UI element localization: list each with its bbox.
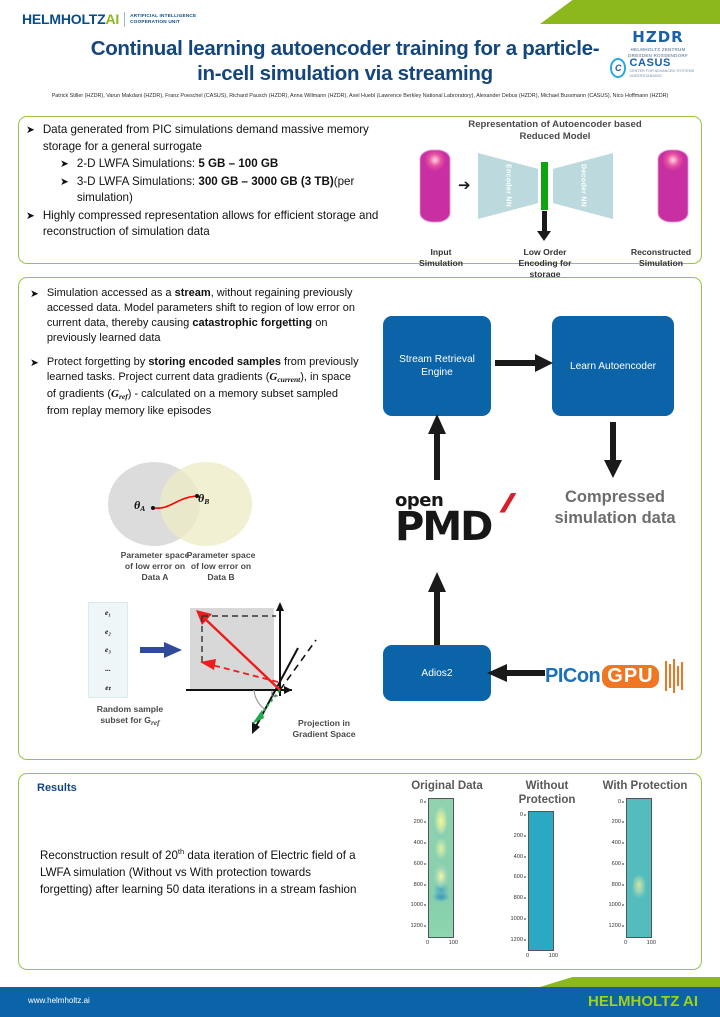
b2-bold-storing: storing encoded samples (148, 356, 281, 368)
helmholtz-ai-logo: HELMHOLTZAI ARTIFICIAL INTELLIGENCE COOP… (22, 11, 196, 27)
y-tick-label: 800 (612, 882, 621, 888)
x-tick-label: 100 (449, 940, 458, 946)
x-tick-label: 0 (624, 940, 627, 946)
heatmap-image (528, 811, 554, 951)
footer-helmholtz-ai-logo: HELMHOLTZ AI (588, 993, 698, 1010)
autoencoder-title-line2: Reduced Model (410, 131, 700, 143)
picongpu-bars-icon (665, 659, 683, 693)
sample-item: e₂ (105, 627, 111, 636)
bullet-text: Data generated from PIC simulations dema… (43, 122, 398, 155)
latent-bar (541, 162, 548, 210)
picongpu-logo: PICon GPU (545, 655, 695, 697)
theta-a-sub: A (140, 504, 145, 513)
plot-title: Original Data (400, 780, 494, 794)
sample-item: ... (105, 664, 111, 673)
y-tick-label: 600 (514, 874, 523, 880)
x-tick-label: 0 (526, 953, 529, 959)
g-ref-symbol: G (111, 388, 119, 400)
plot-x-axis: 0 100 (526, 953, 558, 959)
y-tick-label: 400 (612, 840, 621, 846)
helmholtz-word-text: HELMHOLTZ (22, 11, 105, 27)
right-arrow-icon: ➔ (458, 181, 471, 191)
results-plot-group: Original Data 0 200 400 600 800 1000 120… (400, 780, 696, 966)
venn-caption-b: Parameter space of low error on Data B (184, 550, 258, 583)
y-tick-label: 1000 (609, 902, 621, 908)
blue-right-arrow-icon (140, 642, 182, 658)
plot-original-data: Original Data 0 200 400 600 800 1000 120… (400, 780, 494, 966)
results-heading: Results (37, 782, 77, 794)
encoder-label: Encoder NN (505, 164, 512, 207)
bullet-text: Simulation accessed as a stream, without… (47, 286, 360, 346)
logo-divider (124, 12, 125, 27)
bullet-arrow-icon: ➤ (30, 286, 39, 346)
g-ref-subscript: ref (119, 392, 128, 401)
plot-y-axis: 0 200 400 600 800 1000 1200 (500, 811, 526, 951)
heatmap-image (428, 798, 454, 938)
theta-b-label: θB (198, 491, 209, 506)
helmholtz-subtitle-line1: ARTIFICIAL INTELLIGENCE (130, 13, 196, 19)
projection-caption-line1: Projection in (298, 718, 350, 728)
parameter-shift-path-icon (98, 458, 318, 558)
y-tick-label: 600 (612, 861, 621, 867)
footer-logo-word: HELMHOLTZ (588, 993, 679, 1010)
results-description: Reconstruction result of 20th data itera… (40, 843, 360, 898)
list-item: ➤ Protect forgetting by storing encoded … (30, 355, 360, 419)
sample-item: e₃ (105, 645, 111, 654)
bullet-text: Protect forgetting by storing encoded sa… (47, 355, 360, 419)
random-sample-caption: Random sample subset for Gref (74, 704, 186, 728)
plot-title: Without Protection (500, 780, 594, 807)
y-tick-label: 600 (414, 861, 423, 867)
helmholtz-ai-text: AI (105, 11, 119, 27)
reconstructed-simulation-image (658, 150, 688, 222)
list-item: ➤ Highly compressed representation allow… (26, 208, 398, 241)
casus-logo: C CASUS CENTER FOR ADVANCED SYSTEMS UNDE… (610, 57, 706, 78)
y-tick-label: 400 (414, 840, 423, 846)
caption-low-order-encoding: Low Order Encoding for storage (508, 247, 582, 280)
plot-body: 0 200 400 600 800 1000 1200 0 100 (598, 798, 692, 946)
helmholtz-subtitle-line2: COOPERATION UNIT (130, 19, 196, 25)
sample-stack: e₁ e₂ e₃ ... eₜ (88, 602, 128, 698)
g-current-subscript: current (277, 375, 300, 384)
parameter-space-venn-diagram: θA θB Parameter space of low error on Da… (98, 458, 318, 588)
heatmap-image (626, 798, 652, 938)
x-tick-label: 100 (549, 953, 558, 959)
sample-item: e₁ (105, 608, 111, 617)
footer-url[interactable]: www.helmholtz.ai (28, 996, 90, 1005)
y-tick-label: 200 (414, 819, 423, 825)
method-bullet-list: ➤ Simulation accessed as a stream, witho… (30, 286, 360, 428)
y-tick-label: 200 (514, 833, 523, 839)
decoder-label: Decoder NN (580, 164, 587, 207)
b2-p1: Protect forgetting by (47, 356, 149, 368)
page-title: Continual learning autoencoder training … (80, 36, 610, 86)
x-tick-label: 100 (647, 940, 656, 946)
input-simulation-image (420, 150, 450, 222)
hzdr-wordmark: HZDR (610, 28, 706, 46)
encoder-shape: Encoder NN (478, 153, 538, 219)
b1-p1: Simulation accessed as a (47, 287, 175, 299)
footer-green-accent (540, 977, 720, 987)
b1-bold-forgetting: catastrophic forgetting (192, 317, 312, 329)
casus-circle-icon: C (610, 58, 626, 78)
hzdr-subtitle-line1: HELMHOLTZ ZENTRUM (610, 47, 706, 52)
casus-wordmark: CASUS (629, 57, 706, 69)
caption-reconstructed-simulation: Reconstructed Simulation (618, 247, 704, 269)
plot-title: With Protection (598, 780, 692, 794)
random-sample-caption-line1: Random sample (97, 704, 163, 714)
plot-body: 0 200 400 600 800 1000 1200 0 100 (400, 798, 494, 946)
down-arrow-head-icon (537, 231, 551, 241)
header-green-accent (540, 0, 720, 24)
footer-bar: www.helmholtz.ai HELMHOLTZ AI (0, 987, 720, 1017)
y-tick-label: 200 (612, 819, 621, 825)
casus-tagline: CENTER FOR ADVANCED SYSTEMS UNDERSTANDIN… (629, 69, 706, 78)
b1-bold-stream: stream (175, 287, 211, 299)
gradient-projection-figure: e₁ e₂ e₃ ... eₜ (80, 600, 370, 755)
y-tick-label: 1200 (511, 937, 523, 943)
list-item: ➤ 2-D LWFA Simulations: 5 GB – 100 GB (60, 156, 398, 173)
hzdr-sub1b: ZENTRUM (662, 47, 686, 52)
sample-item: eₜ (105, 683, 111, 692)
author-list: Patrick Stiller (HZDR), Varun Makdani (H… (18, 92, 702, 100)
plot-x-axis: 0 100 (426, 940, 458, 946)
bullet-text-pre: 3-D LWFA Simulations: (77, 175, 199, 188)
plot-body: 0 200 400 600 800 1000 1200 0 100 (500, 811, 594, 959)
random-sample-gref-sub: ref (151, 718, 160, 727)
theta-b-sub: B (204, 497, 209, 506)
bullet-text: 3-D LWFA Simulations: 300 GB – 3000 GB (… (77, 174, 398, 207)
bullet-text-bold: 300 GB – 3000 GB (3 TB) (198, 175, 333, 188)
y-tick-label: 1000 (511, 916, 523, 922)
bullet-text-bold: 5 GB – 100 GB (198, 157, 278, 170)
footer-logo-ai: AI (683, 993, 698, 1010)
autoencoder-stage: ➔ Encoder NN Decoder NN (410, 147, 700, 225)
motivation-bullet-list: ➤ Data generated from PIC simulations de… (26, 122, 398, 242)
bullet-text: Highly compressed representation allows … (43, 208, 398, 241)
x-tick-label: 0 (426, 940, 429, 946)
picongpu-gpu-text: GPU (602, 665, 658, 688)
list-item: ➤ Data generated from PIC simulations de… (26, 122, 398, 155)
y-tick-label: 800 (514, 895, 523, 901)
y-tick-label: 1200 (609, 923, 621, 929)
plot-without-protection: Without Protection 0 200 400 600 800 100… (500, 780, 594, 966)
list-item: ➤ Simulation accessed as a stream, witho… (30, 286, 360, 346)
casus-text-block: CASUS CENTER FOR ADVANCED SYSTEMS UNDERS… (629, 57, 706, 78)
y-tick-label: 400 (514, 854, 523, 860)
hzdr-sub1a: HELMHOLTZ (630, 47, 661, 52)
random-sample-caption-line2: subset for G (100, 715, 151, 725)
bullet-arrow-icon: ➤ (26, 208, 35, 241)
results-text-pre: Reconstruction result of 20 (40, 849, 178, 862)
theta-a-label: θA (134, 498, 145, 513)
caption-input-simulation: Input Simulation (408, 247, 474, 269)
plot-y-axis: 0 200 400 600 800 1000 1200 (400, 798, 426, 938)
helmholtz-subtitle: ARTIFICIAL INTELLIGENCE COOPERATION UNIT (130, 13, 196, 24)
y-tick-label: 1200 (411, 923, 423, 929)
plot-with-protection: With Protection 0 200 400 600 800 1000 1… (598, 780, 692, 966)
y-tick-label: 1000 (411, 902, 423, 908)
poster-root: HELMHOLTZAI ARTIFICIAL INTELLIGENCE COOP… (0, 0, 720, 1017)
plot-x-axis: 0 100 (624, 940, 656, 946)
hzdr-logo: HZDR HELMHOLTZ ZENTRUM DRESDEN ROSSENDOR… (610, 28, 706, 58)
bullet-text-pre: 2-D LWFA Simulations: (77, 157, 199, 170)
y-tick-label: 800 (414, 882, 423, 888)
bullet-text: 2-D LWFA Simulations: 5 GB – 100 GB (77, 156, 398, 173)
autoencoder-title-line1: Representation of Autoencoder based (410, 119, 700, 131)
down-arrow-icon (542, 211, 547, 233)
bullet-arrow-icon: ➤ (60, 174, 69, 207)
decoder-shape: Decoder NN (553, 153, 613, 219)
openpmd-pmd-text: PMD (395, 509, 513, 545)
venn-caption-a: Parameter space of low error on Data A (118, 550, 192, 583)
projection-caption-line2: Gradient Space (292, 729, 355, 739)
plot-y-axis: 0 200 400 600 800 1000 1200 (598, 798, 624, 938)
list-item: ➤ 3-D LWFA Simulations: 300 GB – 3000 GB… (60, 174, 398, 207)
compressed-simulation-data-label: Compressed simulation data (540, 487, 690, 529)
autoencoder-diagram-title: Representation of Autoencoder based Redu… (410, 119, 700, 143)
picongpu-picon-text: PICon (545, 665, 600, 688)
helmholtz-wordmark: HELMHOLTZAI (22, 11, 119, 27)
bullet-arrow-icon: ➤ (26, 122, 35, 155)
bullet-arrow-icon: ➤ (60, 156, 69, 173)
bullet-arrow-icon: ➤ (30, 355, 39, 419)
openpmd-logo: open PMD /// (395, 492, 513, 560)
projection-caption: Projection in Gradient Space (270, 718, 378, 740)
autoencoder-diagram: Representation of Autoencoder based Redu… (410, 118, 700, 260)
